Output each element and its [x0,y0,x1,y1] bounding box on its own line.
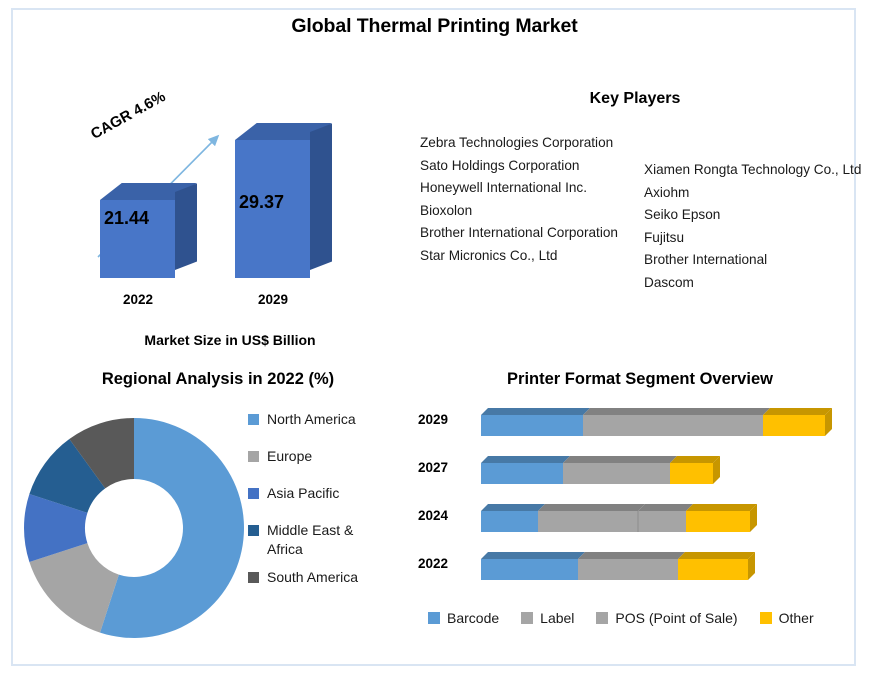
stacked-seg-top [638,504,693,511]
stacked-legend: Barcode Label POS (Point of Sale) Other [428,610,853,626]
stacked-seg-other [670,463,713,484]
stacked-seg-top [578,552,685,559]
stacked-seg-top [481,552,585,559]
legend-item-other: Other [760,610,814,626]
legend-label: Other [779,610,814,626]
key-player-item: Honeywell International Inc. [420,177,635,200]
key-player-item: Dascom [644,272,864,295]
bar-2022-side-face [175,184,197,270]
legend-swatch-icon [760,612,772,624]
legend-item-pos: POS (Point of Sale) [596,610,737,626]
stacked-bars-svg [418,402,858,602]
legend-label: Europe [267,447,312,466]
stacked-seg-barcode [481,463,563,484]
stacked-seg-top [538,504,645,511]
stacked-seg-top [678,552,755,559]
legend-swatch-icon [248,414,259,425]
legend-swatch-icon [521,612,533,624]
stacked-seg-label [578,559,678,580]
stacked-seg-label [583,415,763,436]
stacked-seg-top [481,456,570,463]
bar-2029-category-label: 2029 [225,292,321,307]
key-player-item: Star Micronics Co., Ltd [420,245,635,268]
legend-label: POS (Point of Sale) [615,610,737,626]
column-chart-axis-label: Market Size in US$ Billion [60,332,400,348]
stacked-seg-barcode [481,415,583,436]
key-player-item: Seiko Epson [644,204,864,227]
regional-analysis-title: Regional Analysis in 2022 (%) [18,370,418,389]
key-player-item: Axiohm [644,182,864,205]
stacked-seg-top [563,456,677,463]
legend-label: Barcode [447,610,499,626]
stacked-seg-other [686,511,750,532]
stacked-seg-barcode [481,511,538,532]
donut-svg [18,412,250,644]
page-title: Global Thermal Printing Market [0,15,869,38]
legend-label: Asia Pacific [267,484,339,503]
stacked-seg-label [538,511,638,532]
key-player-item: Zebra Technologies Corporation [420,132,635,155]
market-size-column-chart: CAGR 4.6% 21.44 2022 29.37 2029 Market S… [60,110,400,365]
key-player-item: Bioxolon [420,200,635,223]
legend-label: Label [540,610,574,626]
legend-swatch-icon [248,525,259,536]
bar-2022-value: 21.44 [104,208,149,229]
stacked-seg-other [763,415,825,436]
key-player-item: Sato Holdings Corporation [420,155,635,178]
legend-item-south-america: South America [248,568,418,587]
legend-swatch-icon [248,488,259,499]
stacked-seg-label [563,463,670,484]
legend-item-middle-east-africa: Middle East & Africa [248,521,418,559]
legend-swatch-icon [248,451,259,462]
regional-analysis-donut-chart [18,412,246,644]
legend-swatch-icon [248,572,259,583]
key-players-title: Key Players [470,90,800,108]
stacked-seg-barcode [481,559,578,580]
printer-format-title: Printer Format Segment Overview [430,370,850,389]
legend-swatch-icon [596,612,608,624]
stacked-seg-top [686,504,757,511]
key-player-item: Brother International [644,249,864,272]
stacked-seg-top [481,408,590,415]
printer-format-stacked-chart: 2029 2027 2024 2022 [418,402,858,602]
stacked-seg-top [670,456,720,463]
key-player-item: Xiamen Rongta Technology Co., Ltd [644,159,864,182]
infographic-page: Global Thermal Printing Market CAGR 4.6%… [0,0,869,676]
stacked-seg-pos-point-of-sale [638,511,686,532]
stacked-seg-top [481,504,545,511]
legend-item-label: Label [521,610,574,626]
bar-2029-value: 29.37 [239,192,284,213]
key-players-column-left: Zebra Technologies Corporation Sato Hold… [420,132,635,267]
key-player-item: Fujitsu [644,227,864,250]
legend-swatch-icon [428,612,440,624]
stacked-seg-other [678,559,748,580]
legend-item-asia-pacific: Asia Pacific [248,484,418,503]
legend-label: North America [267,410,356,429]
stacked-seg-top [583,408,770,415]
legend-item-barcode: Barcode [428,610,499,626]
donut-legend: North America Europe Asia Pacific Middle… [248,410,418,605]
stacked-seg-top [763,408,832,415]
legend-item-north-america: North America [248,410,418,429]
legend-item-europe: Europe [248,447,418,466]
key-players-column-right: Xiamen Rongta Technology Co., Ltd Axiohm… [644,159,864,294]
key-player-item: Brother International Corporation [420,222,635,245]
legend-label: South America [267,568,358,587]
bar-2029-side-face [310,124,332,270]
bar-2022-category-label: 2022 [90,292,186,307]
legend-label: Middle East & Africa [267,521,387,559]
